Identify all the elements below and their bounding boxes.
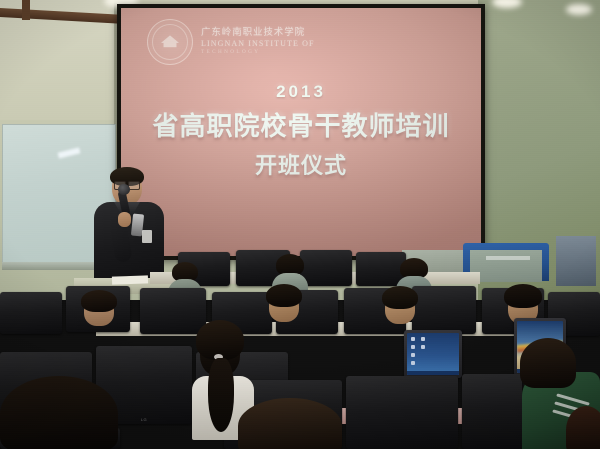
slide-title: 省高职院校骨干教师培训 <box>121 106 481 143</box>
monitor-front-powered <box>404 330 462 378</box>
slide-subtitle: 开班仪式 <box>121 148 481 180</box>
desktop-icon <box>411 353 415 357</box>
blue-cabinet-slot <box>486 256 530 260</box>
institution-name-en2: TECHNOLOGY <box>201 50 315 56</box>
attendee-hair <box>504 284 542 308</box>
ceiling-light <box>566 4 592 15</box>
speaker <box>88 168 172 286</box>
attendee-foreground <box>0 376 120 449</box>
monitor-display <box>407 333 459 375</box>
desktop-icon <box>421 337 425 341</box>
attendee-hair <box>566 406 600 449</box>
slide-year: 2013 <box>121 82 481 102</box>
attendee-hair <box>382 286 418 309</box>
school-crest-icon <box>147 19 193 65</box>
lecture-photo: 广东岭南职业技术学院 LINGNAN INSTITUTE OF TECHNOLO… <box>0 0 600 449</box>
attendee-hair <box>0 376 118 449</box>
desktop-icon <box>411 345 415 349</box>
ponytail <box>208 358 234 432</box>
desktop-icon <box>421 345 425 349</box>
speaker-badge <box>142 230 152 243</box>
attendee <box>78 290 120 330</box>
attendee <box>262 284 306 328</box>
attendee <box>520 338 576 390</box>
attendee-foreground <box>566 406 600 449</box>
projection-screen-frame: 广东岭南职业技术学院 LINGNAN INSTITUTE OF TECHNOLO… <box>117 4 485 260</box>
speaker-hand <box>118 212 131 227</box>
blue-cabinet-interior <box>470 250 542 282</box>
monitor-front <box>462 374 522 449</box>
institution-name-cn: 广东岭南职业技术学院 <box>201 28 315 39</box>
attendee <box>378 286 422 330</box>
projection-screen: 广东岭南职业技术学院 LINGNAN INSTITUTE OF TECHNOLO… <box>121 8 481 256</box>
attendee-hair <box>238 398 342 449</box>
monitor-front <box>346 376 458 449</box>
paper-sheet <box>112 275 148 284</box>
monitor-middle <box>0 292 62 334</box>
ceiling-beam-post <box>22 0 30 20</box>
desktop-icon <box>411 361 415 365</box>
institution-name-en: LINGNAN INSTITUTE OF <box>201 40 315 49</box>
taskbar <box>407 371 459 375</box>
attendee-hair <box>81 290 117 312</box>
microphone-head <box>118 184 130 195</box>
side-equipment-rack <box>556 236 596 286</box>
slide-header: 广东岭南职业技术学院 LINGNAN INSTITUTE OF TECHNOLO… <box>147 16 447 68</box>
desktop-icon <box>411 337 415 341</box>
attendee-hair <box>520 338 576 388</box>
institution-name-block: 广东岭南职业技术学院 LINGNAN INSTITUTE OF TECHNOLO… <box>201 28 315 55</box>
attendee-hair <box>266 284 302 307</box>
monitor-brand: LG <box>141 417 147 422</box>
attendee-foreground <box>238 398 342 449</box>
